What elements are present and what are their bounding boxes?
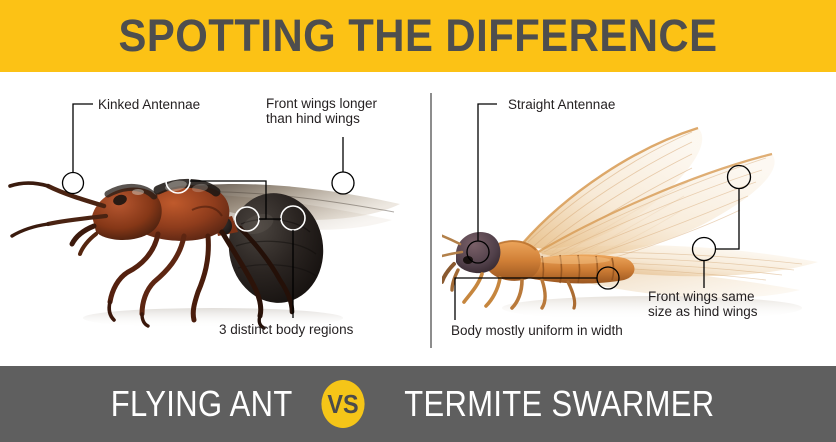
callout-label-front-wings-same-line2: size as hind wings: [648, 304, 758, 319]
footer-label-termite-swarmer: TERMITE SWARMER: [405, 383, 715, 425]
callout-label-front-wings-longer-line2: than hind wings: [266, 111, 360, 126]
panel-divider: [430, 93, 432, 348]
callout-label-front-wings-same-line1: Front wings same: [648, 289, 755, 304]
vs-badge: VS: [322, 380, 365, 428]
infographic-root: SPOTTING THE DIFFERENCE: [0, 0, 836, 442]
callout-label-body-uniform-width: Body mostly uniform in width: [451, 323, 623, 338]
flying-ant-image: [8, 120, 418, 335]
footer-content: FLYING ANT VS TERMITE SWARMER: [0, 366, 836, 442]
callout-label-front-wings-longer-line1: Front wings longer: [266, 96, 377, 111]
callout-label-straight-antennae: Straight Antennae: [508, 97, 615, 112]
callout-label-three-body-regions: 3 distinct body regions: [219, 322, 353, 337]
termite-swarmer-image: [442, 112, 836, 337]
callout-label-kinked-antennae: Kinked Antennae: [98, 97, 200, 112]
page-title: SPOTTING THE DIFFERENCE: [29, 0, 806, 72]
footer-label-flying-ant: FLYING ANT: [111, 383, 293, 425]
